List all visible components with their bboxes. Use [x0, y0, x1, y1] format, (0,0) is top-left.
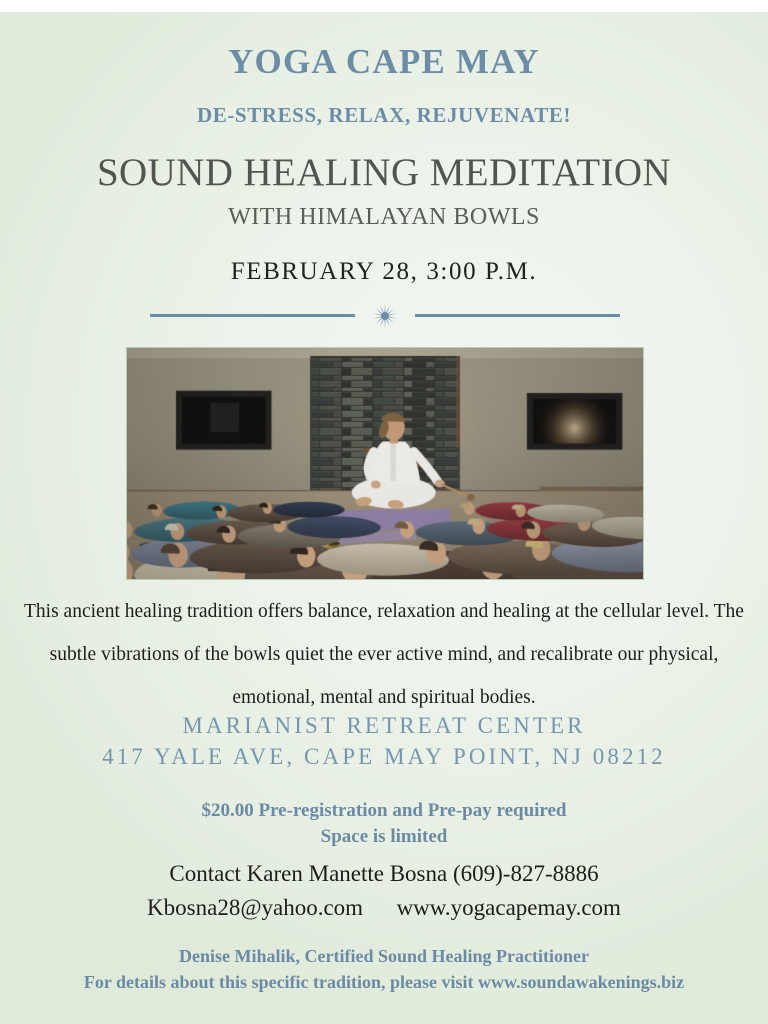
venue-address: 417 YALE AVE, CAPE MAY POINT, NJ 08212: [0, 741, 768, 772]
organization-title: YOGA CAPE MAY: [0, 44, 768, 79]
venue-block: MARIANIST RETREAT CENTER 417 YALE AVE, C…: [0, 710, 768, 772]
event-subtitle: WITH HIMALAYAN BOWLS: [0, 204, 768, 230]
contact-email[interactable]: Kbosna28@yahoo.com: [147, 895, 363, 920]
decorative-divider: [150, 303, 620, 329]
divider-rule-right: [415, 314, 620, 317]
event-photo: [126, 347, 644, 580]
footer-practitioner: Denise Mihalik, Certified Sound Healing …: [0, 943, 768, 969]
contact-block: Contact Karen Manette Bosna (609)-827-88…: [0, 857, 768, 925]
footer-block: Denise Mihalik, Certified Sound Healing …: [0, 943, 768, 995]
event-datetime: FEBRUARY 28, 3:00 P.M.: [0, 258, 768, 286]
contact-links-line: Kbosna28@yahoo.com www.yogacapemay.com: [0, 891, 768, 925]
event-photo-image: [127, 348, 643, 579]
pricing-block: $20.00 Pre-registration and Pre-pay requ…: [0, 798, 768, 850]
footer-details: For details about this specific traditio…: [0, 969, 768, 995]
tagline: DE-STRESS, RELAX, REJUVENATE!: [0, 105, 768, 126]
venue-name: MARIANIST RETREAT CENTER: [0, 710, 768, 741]
price-line: $20.00 Pre-registration and Pre-pay requ…: [0, 798, 768, 824]
starburst-icon: [372, 303, 398, 329]
contact-person-line: Contact Karen Manette Bosna (609)-827-88…: [0, 857, 768, 891]
event-title: SOUND HEALING MEDITATION: [0, 152, 768, 195]
space-limited-line: Space is limited: [0, 824, 768, 850]
divider-rule-left: [150, 314, 355, 317]
contact-website[interactable]: www.yogacapemay.com: [397, 895, 621, 920]
flyer-content: YOGA CAPE MAY DE-STRESS, RELAX, REJUVENA…: [0, 12, 768, 1024]
description-paragraph: This ancient healing tradition offers ba…: [14, 590, 754, 719]
flyer-page: YOGA CAPE MAY DE-STRESS, RELAX, REJUVENA…: [0, 0, 768, 1024]
page-top-margin: [0, 0, 768, 12]
